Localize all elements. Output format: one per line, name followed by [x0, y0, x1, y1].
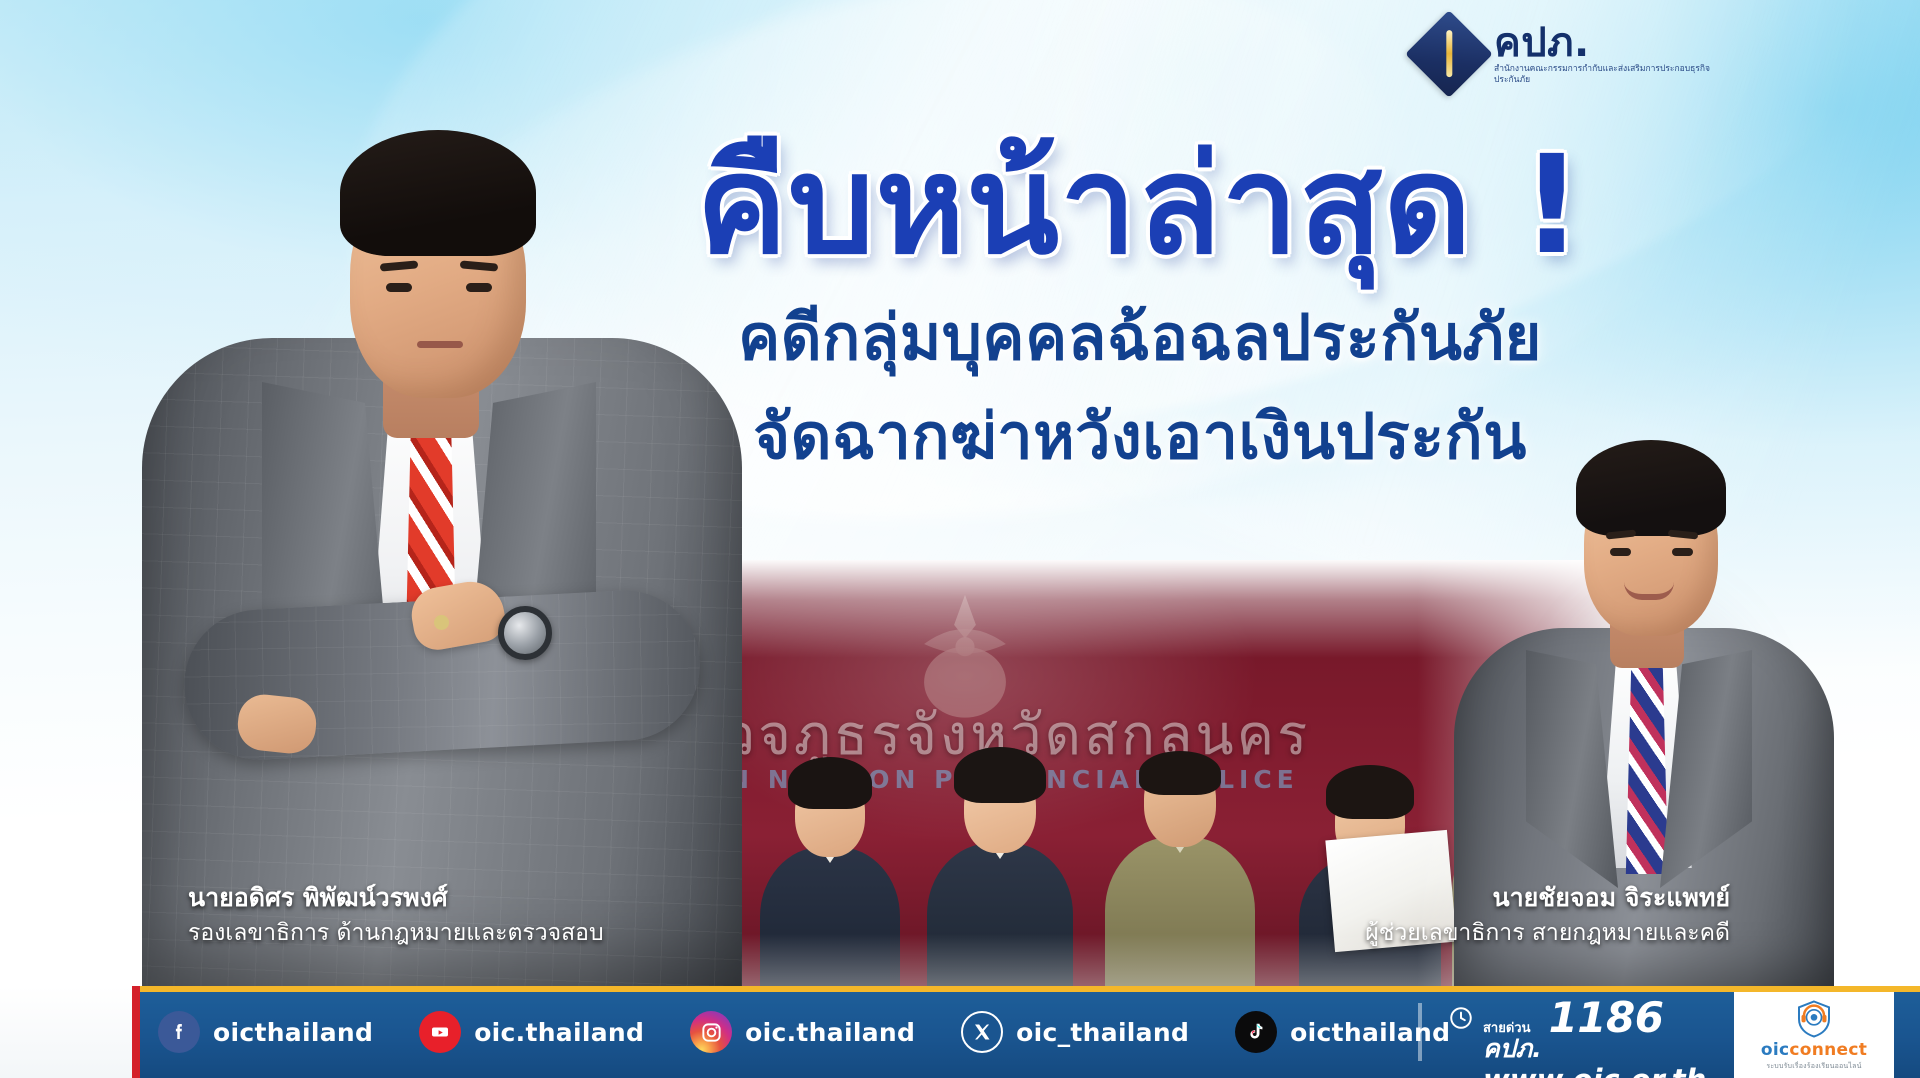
- brand-full-name: สำนักงานคณะกรรมการกำกับและส่งเสริมการประ…: [1494, 64, 1724, 87]
- oic-connect-badge[interactable]: oicconnect ระบบรับเรื่องร้องเรียนออนไลน์: [1734, 992, 1894, 1078]
- social-youtube-handle: oic.thailand: [474, 1018, 644, 1047]
- social-x-handle: oic_thailand: [1016, 1018, 1189, 1047]
- facebook-icon: [158, 1011, 200, 1053]
- hotline-label-org: คปภ.: [1483, 1034, 1542, 1063]
- hotline-block[interactable]: สายด่วน คปภ. 1186 www.oic.or.th: [1448, 997, 1706, 1078]
- footer-left-accent: [0, 986, 140, 1078]
- caption-left: นายอดิศร พิพัฒน์วรพงศ์ รองเลขาธิการ ด้าน…: [188, 880, 604, 950]
- portrait-left-wristwatch: [498, 606, 552, 660]
- caption-right-name: นายชัยจอม จิระแพทย์: [1365, 880, 1730, 916]
- headline-subline-2: จัดฉากฆ่าหวังเอาเงินประกัน: [660, 390, 1620, 485]
- social-links: oicthailand oic.thailand: [158, 986, 1450, 1078]
- social-youtube[interactable]: oic.thailand: [419, 1011, 644, 1053]
- social-instagram-handle: oic.thailand: [745, 1018, 915, 1047]
- oic-brand-logo: คปภ. สำนักงานคณะกรรมการกำกับและส่งเสริมก…: [1418, 22, 1724, 87]
- oic-connect-title-a: oic: [1761, 1040, 1789, 1060]
- portrait-left-hair: [340, 130, 536, 256]
- portrait-left-eye-right: [466, 283, 492, 292]
- social-facebook[interactable]: oicthailand: [158, 1011, 373, 1053]
- portrait-right-eye-left: [1610, 548, 1631, 556]
- oic-connect-title-b: connect: [1789, 1040, 1867, 1060]
- caption-left-name: นายอดิศร พิพัฒน์วรพงศ์: [188, 880, 604, 916]
- headline-subline-1: คดีกลุ่มบุคคลฉ้อฉลประกันภัย: [660, 291, 1620, 386]
- footer-divider: [1418, 1003, 1422, 1061]
- oic-diamond-icon: [1405, 11, 1493, 99]
- shield-icon: [1794, 999, 1834, 1039]
- brand-abbreviation: คปภ.: [1494, 22, 1724, 64]
- portrait-left-ring: [434, 615, 449, 630]
- headline-main: คืบหน้าล่าสุด !: [660, 136, 1620, 277]
- infographic-poster: ตำรวจภูธรจังหวัดสกลนคร SAKON NAKHON PROV…: [0, 0, 1920, 1078]
- footer-bar: oicthailand oic.thailand: [0, 986, 1920, 1078]
- instagram-icon: [690, 1011, 732, 1053]
- oic-connect-subtitle: ระบบรับเรื่องร้องเรียนออนไลน์: [1766, 1061, 1861, 1072]
- social-instagram[interactable]: oic.thailand: [690, 1011, 915, 1053]
- royal-crest-icon: [881, 584, 1049, 734]
- x-twitter-icon: [961, 1011, 1003, 1053]
- caption-left-role: รองเลขาธิการ ด้านกฎหมายและตรวจสอบ: [188, 917, 604, 950]
- portrait-left-mouth: [417, 341, 463, 348]
- social-x-twitter[interactable]: oic_thailand: [961, 1011, 1189, 1053]
- portrait-right-necktie: [1624, 660, 1670, 874]
- tiktok-icon: [1235, 1011, 1277, 1053]
- caption-right: นายชัยจอม จิระแพทย์ ผู้ช่วยเลขาธิการ สาย…: [1365, 880, 1730, 950]
- social-tiktok-handle: oicthailand: [1290, 1018, 1450, 1047]
- hotline-number: 1186: [1549, 997, 1664, 1039]
- website-url[interactable]: www.oic.or.th: [1483, 1066, 1706, 1078]
- oic-connect-title: oicconnect: [1761, 1040, 1867, 1060]
- portrait-left-eye-left: [386, 283, 412, 292]
- social-facebook-handle: oicthailand: [213, 1018, 373, 1047]
- headline-block: คืบหน้าล่าสุด ! คดีกลุ่มบุคคลฉ้อฉลประกัน…: [660, 136, 1620, 484]
- clock-icon: [1448, 1005, 1474, 1035]
- portrait-right-eye-right: [1672, 548, 1693, 556]
- brand-text: คปภ. สำนักงานคณะกรรมการกำกับและส่งเสริมก…: [1494, 22, 1724, 87]
- hotline-text: สายด่วน คปภ. 1186 www.oic.or.th: [1483, 997, 1706, 1078]
- caption-right-role: ผู้ช่วยเลขาธิการ สายกฎหมายและคดี: [1365, 917, 1730, 950]
- youtube-icon: [419, 1011, 461, 1053]
